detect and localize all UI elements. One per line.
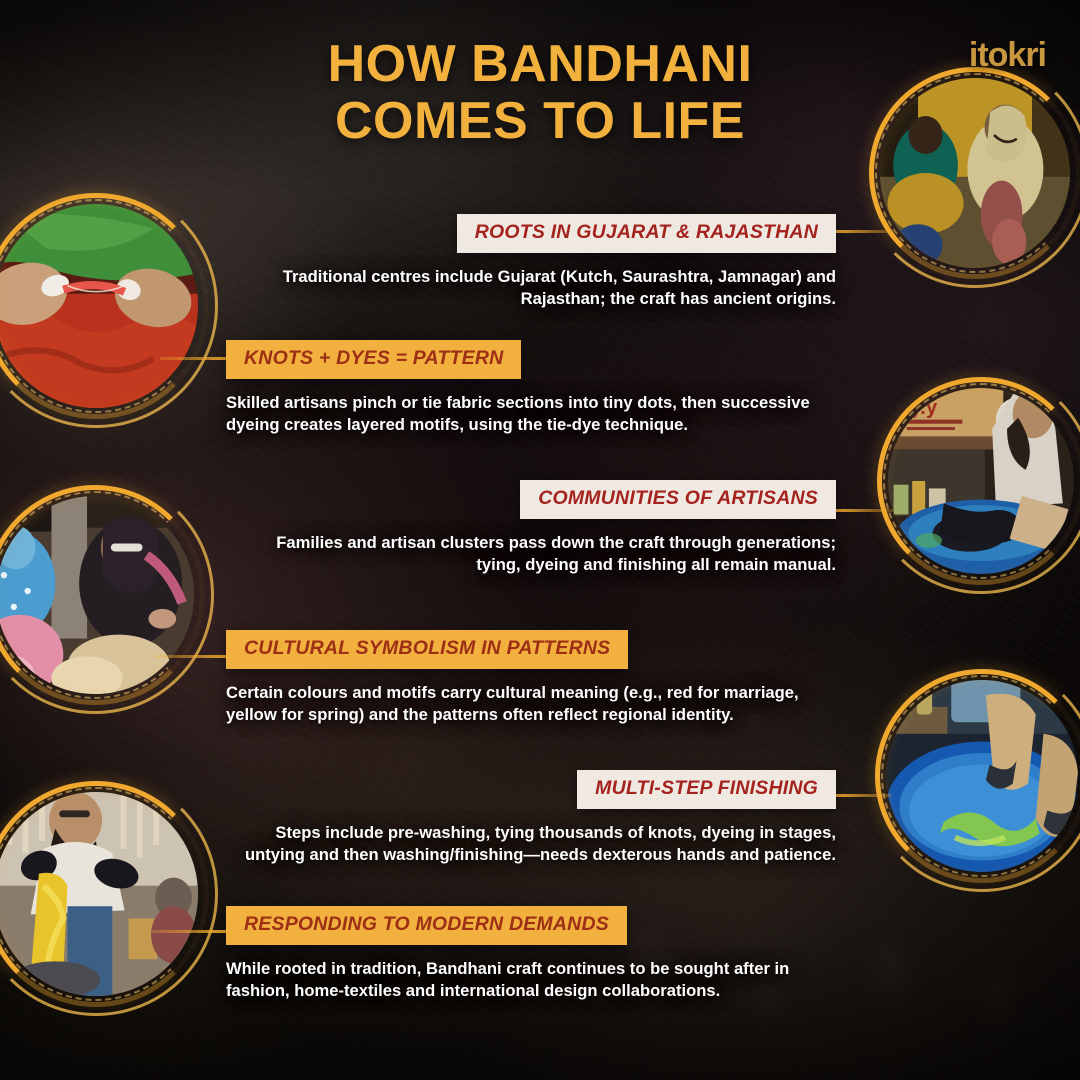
photo-dyer-blue-vat: y.y [888, 388, 1074, 574]
section-body-2: Skilled artisans pinch or tie fabric sec… [226, 392, 816, 437]
connector-line-2 [160, 357, 228, 360]
section-body-6: While rooted in tradition, Bandhani craf… [226, 958, 796, 1003]
section-body-5: Steps include pre-washing, tying thousan… [236, 822, 836, 867]
section-cultural-symbolism-in-patterns: CULTURAL SYMBOLISM IN PATTERNS Certain c… [226, 630, 816, 727]
photo-women-finishing [0, 496, 194, 694]
section-roots-in-gujarat-rajasthan: ROOTS IN GUJARAT & RAJASTHAN Traditional… [236, 214, 836, 311]
photo-hands-tying-red [0, 204, 198, 408]
connector-line-6 [152, 930, 226, 933]
section-heading-6: RESPONDING TO MODERN DEMANDS [226, 906, 627, 945]
photo-lifting-yellow [0, 792, 198, 996]
section-heading-2: KNOTS + DYES = PATTERN [226, 340, 521, 379]
section-communities-of-artisans: COMMUNITIES OF ARTISANS Families and art… [236, 480, 836, 577]
section-knots-dyes-pattern: KNOTS + DYES = PATTERN Skilled artisans … [226, 340, 816, 437]
section-heading-1: ROOTS IN GUJARAT & RAJASTHAN [457, 214, 836, 253]
title-line-1: HOW BANDHANI [328, 35, 753, 93]
section-heading-4: CULTURAL SYMBOLISM IN PATTERNS [226, 630, 628, 669]
infographic-poster: HOW BANDHANI COMES TO LIFE itokri [0, 0, 1080, 1080]
photo-ring-inner [883, 383, 1079, 579]
section-heading-3: COMMUNITIES OF ARTISANS [520, 480, 836, 519]
page-title: HOW BANDHANI COMES TO LIFE [0, 36, 1080, 150]
title-line-2: COMES TO LIFE [0, 93, 1080, 150]
connector-line-5 [835, 794, 891, 797]
connector-line-3 [835, 509, 893, 512]
photo-dye-vat-green [886, 680, 1078, 872]
section-multi-step-finishing: MULTI-STEP FINISHING Steps include pre-w… [236, 770, 836, 867]
section-heading-5: MULTI-STEP FINISHING [577, 770, 836, 809]
section-body-3: Families and artisan clusters pass down … [236, 532, 836, 577]
section-responding-to-modern-demands: RESPONDING TO MODERN DEMANDS While roote… [226, 906, 796, 1003]
connector-line-1 [835, 230, 893, 233]
brand-logo[interactable]: itokri [969, 36, 1046, 75]
section-body-1: Traditional centres include Gujarat (Kut… [236, 266, 836, 311]
photo-ring-inner [881, 675, 1080, 877]
photo-ring-inner [0, 491, 199, 699]
connector-line-4 [155, 655, 227, 658]
section-body-4: Certain colours and motifs carry cultura… [226, 682, 816, 727]
